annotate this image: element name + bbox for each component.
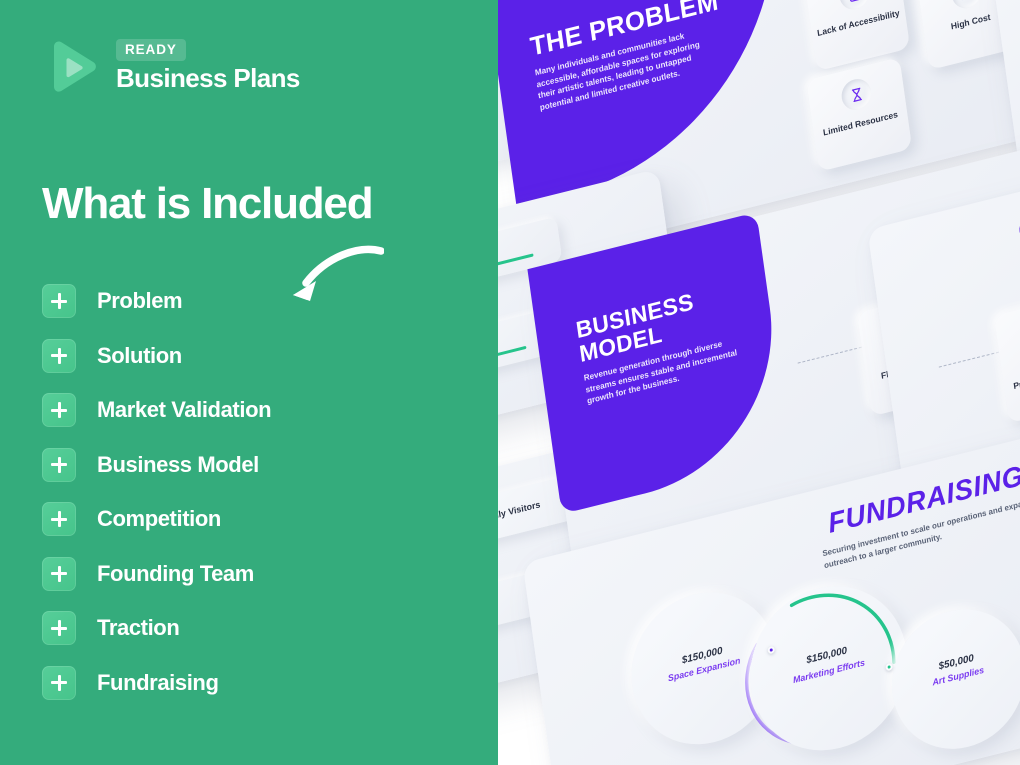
hourglass-icon-well — [840, 76, 873, 113]
feature-item-fundraising[interactable]: Fundraising — [42, 666, 271, 700]
feature-label: Solution — [97, 345, 182, 367]
problem-card-limited-resources-label: Limited Resources — [813, 107, 908, 141]
hourglass-icon — [848, 85, 865, 104]
ready-badge: READY — [116, 39, 186, 61]
problem-card-limited-resources[interactable]: Limited Resources — [806, 57, 912, 172]
collage-canvas: THE PROBLEM Many individuals and communi… — [498, 0, 1020, 765]
plus-icon — [42, 448, 76, 482]
lock-icon — [846, 0, 863, 3]
brand-text-block: READY Business Plans — [116, 39, 300, 92]
plus-icon — [42, 339, 76, 373]
competition-card-professional-artists[interactable]: Professional Artists — [994, 292, 1020, 424]
left-green-panel: READY Business Plans What is Included Pr… — [0, 0, 498, 765]
feature-item-competition[interactable]: Competition — [42, 502, 271, 536]
competition-card-professional-artists-label: Professional Artists — [1003, 359, 1020, 394]
plus-icon — [42, 557, 76, 591]
business-model-dashed-connector — [798, 347, 862, 364]
page-title: What is Included — [42, 181, 372, 227]
plus-icon — [42, 502, 76, 536]
feature-item-problem[interactable]: Problem — [42, 284, 271, 318]
plus-icon — [42, 611, 76, 645]
feature-label: Fundraising — [97, 672, 219, 694]
feature-label: Founding Team — [97, 563, 254, 585]
chart-line-icon — [958, 0, 975, 2]
competition-dashed-connector — [939, 352, 999, 368]
lock-icon-well — [838, 0, 871, 13]
brand-title: Business Plans — [116, 64, 300, 93]
brand-lockup: READY Business Plans — [44, 38, 300, 94]
feature-label: Competition — [97, 508, 221, 530]
feature-item-business-model[interactable]: Business Model — [42, 448, 271, 482]
page-root: THE PROBLEM Many individuals and communi… — [0, 0, 1020, 765]
feature-label: Traction — [97, 617, 179, 639]
feature-item-solution[interactable]: Solution — [42, 339, 271, 373]
included-feature-list: Problem Solution Market Validation Busin… — [42, 284, 271, 700]
feature-label: Business Model — [97, 454, 259, 476]
plus-icon — [42, 393, 76, 427]
feature-item-traction[interactable]: Traction — [42, 611, 271, 645]
plus-icon — [42, 284, 76, 318]
feature-label: Market Validation — [97, 399, 271, 421]
gears-bulb-icon — [1016, 305, 1020, 366]
curved-arrow-icon — [280, 243, 384, 315]
feature-label: Problem — [97, 290, 182, 312]
problem-card-accessibility-label: Lack of Accessibility — [811, 6, 906, 40]
chart-line-icon-well — [950, 0, 983, 11]
feature-item-founding-team[interactable]: Founding Team — [42, 557, 271, 591]
feature-item-market-validation[interactable]: Market Validation — [42, 393, 271, 427]
slide-preview-collage: THE PROBLEM Many individuals and communi… — [498, 0, 1020, 765]
plus-icon — [42, 666, 76, 700]
play-triangle-icon — [44, 38, 100, 94]
